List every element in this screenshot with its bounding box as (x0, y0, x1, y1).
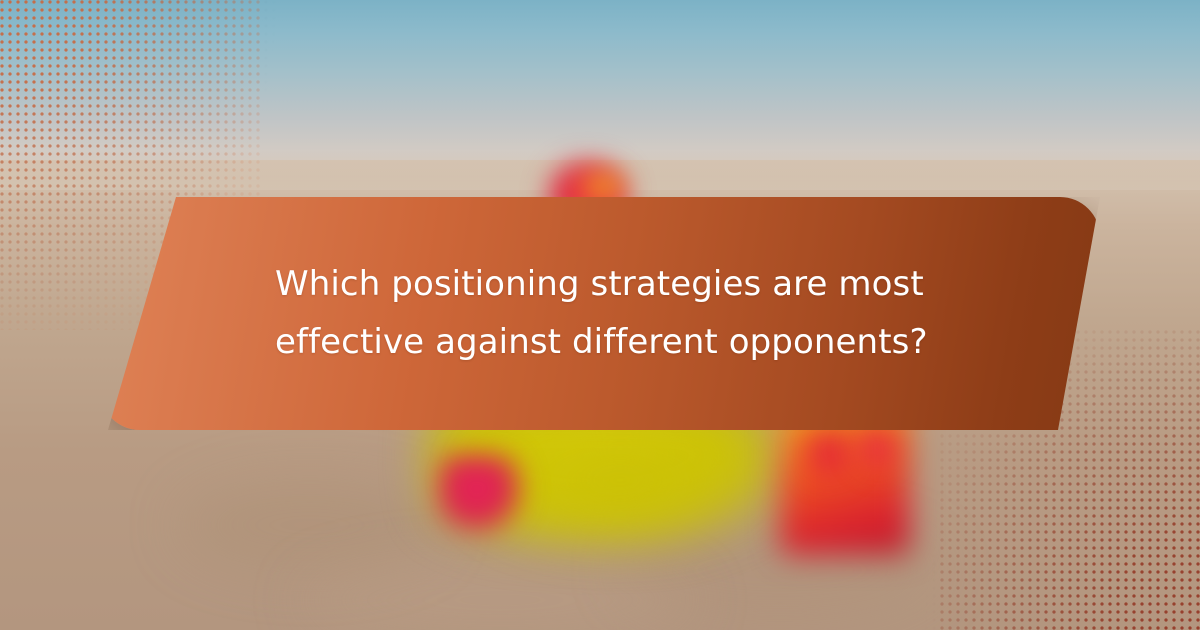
sky-gradient (0, 0, 1200, 172)
question-heading-line-1: Which positioning strategies are most (275, 255, 995, 313)
question-heading: Which positioning strategies are most ef… (275, 255, 995, 371)
sand-texture-smudge (300, 560, 700, 630)
red-ball-blob (438, 455, 524, 533)
question-card: Which positioning strategies are most ef… (100, 197, 1100, 430)
share-card-canvas: Which positioning strategies are most ef… (0, 0, 1200, 630)
question-heading-line-2: effective against different opponents? (275, 313, 995, 371)
sand-texture-smudge (180, 480, 440, 570)
